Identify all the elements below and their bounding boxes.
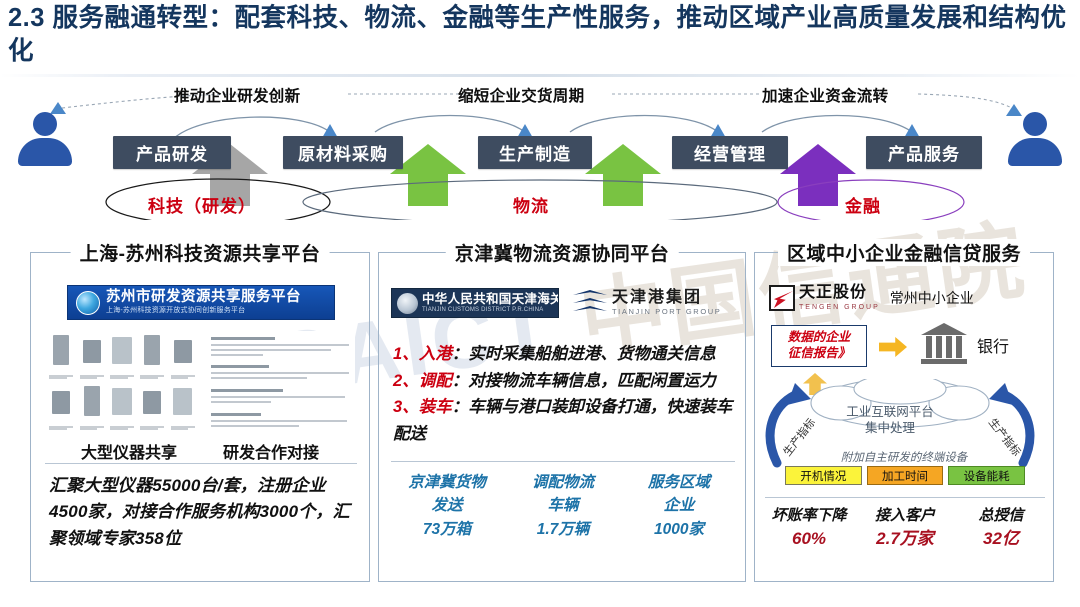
banner-main-text: 苏州市研发资源共享服务平台: [106, 290, 301, 305]
emblem-icon: [397, 293, 418, 314]
stat-label-line1: 调配物流: [505, 471, 621, 494]
instrument-thumb: [47, 331, 75, 380]
sublabel-instrument-sharing: 大型仪器共享: [81, 439, 177, 463]
flow-node-manufacturing[interactable]: 生产制造: [478, 136, 592, 169]
stat-cargo-sent: 京津冀货物 发送 73万箱: [389, 471, 505, 541]
tengen-logo-sub: TENGEN GROUP: [799, 304, 880, 311]
person-head-icon: [33, 112, 57, 136]
bank-label: 银行: [977, 333, 1009, 357]
stat-label-line1: 京津冀货物: [389, 471, 505, 494]
customs-logo-sub: TIANJIN CUSTOMS DISTRICT P.R.CHINA: [422, 307, 559, 313]
cloud-line1: 工业互联网平台: [846, 404, 934, 420]
person-icon-right: [1004, 110, 1066, 172]
arrow-right-icon: [879, 337, 907, 357]
slide-root: CAICT 中国信通院 2.3 服务融通转型：配套科技、物流、金融等生产性服务，…: [0, 0, 1080, 607]
bank-icon: [921, 323, 967, 365]
stat-connected-customers: 接入客户 2.7万家: [857, 505, 953, 551]
panel1-body-text: 汇聚大型仪器55000台/套，注册企业4500家，对接合作服务机构3000个，汇…: [49, 473, 355, 552]
step-number: 2、: [393, 372, 419, 390]
instrument-thumb: [138, 331, 166, 380]
tianjin-port-logo: 天津港集团 TIANJIN PORT GROUP: [573, 290, 721, 317]
step-text: ：对接物流车辆信息，匹配闲置运力: [452, 372, 716, 390]
banner-sub-text: 上海-苏州科技资源开放式协同创新服务平台: [106, 307, 301, 314]
stat-served-enterprises: 服务区域 企业 1000家: [621, 471, 737, 541]
panel1-title: 上海-苏州科技资源共享平台: [71, 239, 330, 266]
page-title: 2.3 服务融通转型：配套科技、物流、金融等生产性服务，推动区域产业高质量发展和…: [8, 2, 1073, 68]
stat-label-line2: 企业: [621, 494, 737, 517]
terminal-device-note: 附加自主研发的终端设备: [755, 449, 1053, 465]
instrument-thumb: [108, 331, 136, 380]
tianjin-customs-logo: 中华人民共和国天津海关 TIANJIN CUSTOMS DISTRICT P.R…: [391, 288, 559, 318]
stat-label: 坏账率下降: [761, 505, 857, 527]
instrument-thumb: [47, 382, 75, 431]
suzhou-platform-banner: 苏州市研发资源共享服务平台 上海-苏州科技资源开放式协同创新服务平台: [67, 285, 335, 320]
stat-value: 2.7万家: [857, 527, 953, 552]
instrument-thumb: [138, 382, 166, 431]
stat-vehicles: 调配物流 车辆 1.7万辆: [505, 471, 621, 541]
port-logo-sub: TIANJIN PORT GROUP: [612, 308, 721, 316]
panel3-title: 区域中小企业金融信贷服务: [778, 239, 1030, 266]
flow-node-product-rd[interactable]: 产品研发: [113, 136, 231, 169]
stat-label-line1: 服务区域: [621, 471, 737, 494]
person-body-icon: [18, 138, 72, 166]
port-logo-main: 天津港集团: [612, 290, 721, 307]
sublabel-rd-matching: 研发合作对接: [223, 439, 319, 463]
stat-label-line2: 发送: [389, 494, 505, 517]
panel1-divider: [45, 463, 357, 464]
stat-label: 总授信: [953, 505, 1049, 527]
step-number: 1、: [393, 345, 419, 363]
step-keyword: 装车: [419, 398, 452, 416]
panel-finance-credit: 区域中小企业金融信贷服务 天正股份 TENGEN GROUP 常州中小企业 数据…: [754, 252, 1054, 582]
flow-top-label-2: 缩短企业交货周期: [458, 84, 584, 106]
tengen-group-logo: 天正股份 TENGEN GROUP: [769, 285, 880, 311]
panel2-logos: 中华人民共和国天津海关 TIANJIN CUSTOMS DISTRICT P.R…: [391, 283, 735, 323]
port-chevron-icon: [573, 290, 607, 316]
flow-node-material-purchase[interactable]: 原材料采购: [283, 136, 403, 169]
tengen-arrow-icon: [769, 285, 795, 311]
person-icon-left: [14, 110, 76, 172]
bank-roof-icon: [921, 323, 967, 335]
platform-screenshot: [47, 331, 355, 431]
instrument-thumb: [77, 382, 105, 431]
instrument-thumb: [108, 382, 136, 431]
step-number: 3、: [393, 398, 419, 416]
cloud-line2: 集中处理: [865, 420, 915, 436]
stat-bad-debt-rate: 坏账率下降 60%: [761, 505, 857, 551]
chip-processing-time: 加工时间: [867, 466, 944, 485]
flow-node-product-service[interactable]: 产品服务: [866, 136, 982, 169]
panel2-title: 京津冀物流资源协同平台: [446, 239, 679, 266]
stat-value: 1.7万辆: [505, 518, 621, 541]
chip-startup-status: 开机情况: [785, 466, 862, 485]
step-text: ：实时采集船舶进港、货物通关信息: [452, 345, 716, 363]
ellipse-label-finance: 金融: [845, 192, 881, 217]
stat-total-credit: 总授信 32亿: [953, 505, 1049, 551]
stat-value: 32亿: [953, 527, 1049, 552]
stat-value: 1000家: [621, 518, 737, 541]
stat-value: 73万箱: [389, 518, 505, 541]
title-divider: [0, 74, 1080, 77]
bank-columns-icon: [926, 336, 962, 358]
customs-logo-main: 中华人民共和国天津海关: [422, 293, 559, 306]
person-head-icon: [1023, 112, 1047, 136]
ellipse-label-logistics: 物流: [513, 192, 549, 217]
report-line1: 数据的企业: [788, 330, 851, 346]
logistics-step-list: 1、入港：实时采集船舶进港、货物通关信息 2、调配：对接物流车辆信息，匹配闲置运…: [393, 341, 737, 448]
stat-label: 接入客户: [857, 505, 953, 527]
instrument-thumb: [169, 331, 197, 380]
chip-energy-usage: 设备能耗: [948, 466, 1025, 485]
stat-label-line2: 车辆: [505, 494, 621, 517]
flow-node-operations[interactable]: 经营管理: [672, 136, 788, 169]
value-chain-diagram: 推动企业研发创新 缩短企业交货周期 加速企业资金流转 产品研发 原材料采购 生产…: [0, 80, 1080, 220]
panel3-divider: [765, 497, 1045, 498]
indicator-chip-row: 开机情况 加工时间 设备能耗: [785, 466, 1025, 485]
panel2-stats: 京津冀货物 发送 73万箱 调配物流 车辆 1.7万辆 服务区域 企业 1000…: [389, 471, 737, 541]
report-line2: 征信报告》: [788, 346, 851, 362]
document-list-screenshot: [209, 331, 355, 431]
tengen-logo-main: 天正股份: [799, 285, 880, 302]
panel3-stats: 坏账率下降 60% 接入客户 2.7万家 总授信 32亿: [761, 505, 1049, 551]
step-keyword: 入港: [419, 345, 452, 363]
flow-top-label-1: 推动企业研发创新: [174, 84, 300, 106]
list-item: 1、入港：实时采集船舶进港、货物通关信息: [393, 341, 737, 368]
panel-tech-platform: 上海-苏州科技资源共享平台 苏州市研发资源共享服务平台 上海-苏州科技资源开放式…: [30, 252, 370, 582]
person-body-icon: [1008, 138, 1062, 166]
list-item: 2、调配：对接物流车辆信息，匹配闲置运力: [393, 368, 737, 395]
customer-label: 常州中小企业: [890, 288, 974, 308]
panel1-sublabels: 大型仪器共享 研发合作对接: [31, 439, 369, 463]
panel-logistics-platform: 京津冀物流资源协同平台 中华人民共和国天津海关 TIANJIN CUSTOMS …: [378, 252, 746, 582]
credit-report-box: 数据的企业 征信报告》: [771, 325, 867, 367]
stat-value: 60%: [761, 527, 857, 552]
instrument-thumbnail-grid: [47, 331, 197, 431]
list-item: 3、装车：车辆与港口装卸设备打通，快速装车配送: [393, 394, 737, 447]
globe-icon: [76, 291, 100, 315]
step-keyword: 调配: [419, 372, 452, 390]
instrument-thumb: [169, 382, 197, 431]
panel3-logos: 天正股份 TENGEN GROUP 常州中小企业: [769, 281, 1043, 315]
industrial-internet-cloud: 工业互联网平台 集中处理: [807, 393, 973, 447]
flow-top-label-3: 加速企业资金流转: [762, 84, 888, 106]
ellipse-label-tech: 科技（研发）: [148, 192, 256, 217]
bank-base-icon: [921, 359, 967, 364]
instrument-thumb: [77, 331, 105, 380]
panel2-divider: [391, 461, 735, 462]
